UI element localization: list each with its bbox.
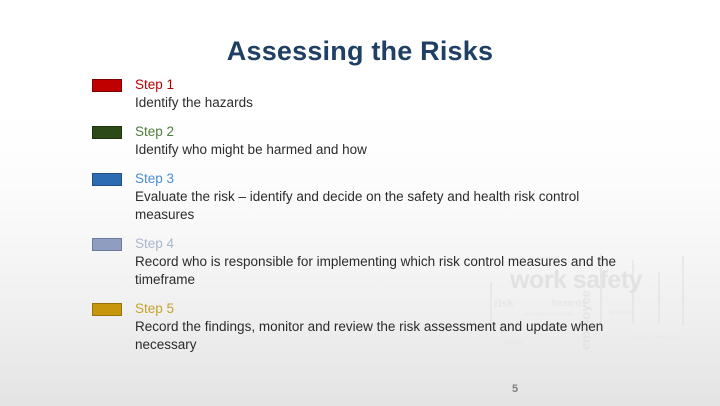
step-label: Step 4 bbox=[135, 237, 174, 251]
step-header: Step 5 bbox=[92, 302, 652, 316]
step-color-swatch-icon bbox=[92, 173, 122, 186]
steps-list: Step 1 Identify the hazards Step 2 Ident… bbox=[92, 78, 652, 367]
step-item-2: Step 2 Identify who might be harmed and … bbox=[92, 125, 652, 159]
watermark-bar bbox=[658, 272, 660, 324]
step-header: Step 3 bbox=[92, 172, 652, 186]
step-color-swatch-icon bbox=[92, 126, 122, 139]
step-item-4: Step 4 Record who is responsible for imp… bbox=[92, 237, 652, 289]
step-description: Identify who might be harmed and how bbox=[135, 141, 635, 159]
step-description: Record the findings, monitor and review … bbox=[135, 318, 635, 354]
slide-title: Assessing the Risks bbox=[0, 36, 720, 67]
step-item-1: Step 1 Identify the hazards bbox=[92, 78, 652, 112]
step-color-swatch-icon bbox=[92, 79, 122, 92]
step-description: Identify the hazards bbox=[135, 94, 635, 112]
step-label: Step 2 bbox=[135, 125, 174, 139]
step-color-swatch-icon bbox=[92, 238, 122, 251]
step-label: Step 5 bbox=[135, 302, 174, 316]
step-label: Step 3 bbox=[135, 172, 174, 186]
step-header: Step 2 bbox=[92, 125, 652, 139]
step-item-3: Step 3 Evaluate the risk – identify and … bbox=[92, 172, 652, 224]
step-description: Record who is responsible for implementi… bbox=[135, 253, 635, 289]
step-header: Step 1 bbox=[92, 78, 652, 92]
watermark-bar bbox=[682, 256, 684, 326]
step-label: Step 1 bbox=[135, 78, 174, 92]
step-description: Evaluate the risk – identify and decide … bbox=[135, 188, 635, 224]
step-item-5: Step 5 Record the findings, monitor and … bbox=[92, 302, 652, 354]
slide-canvas: work environment work safety risk hazard… bbox=[0, 0, 720, 406]
step-color-swatch-icon bbox=[92, 303, 122, 316]
page-number: 5 bbox=[0, 383, 720, 395]
step-header: Step 4 bbox=[92, 237, 652, 251]
